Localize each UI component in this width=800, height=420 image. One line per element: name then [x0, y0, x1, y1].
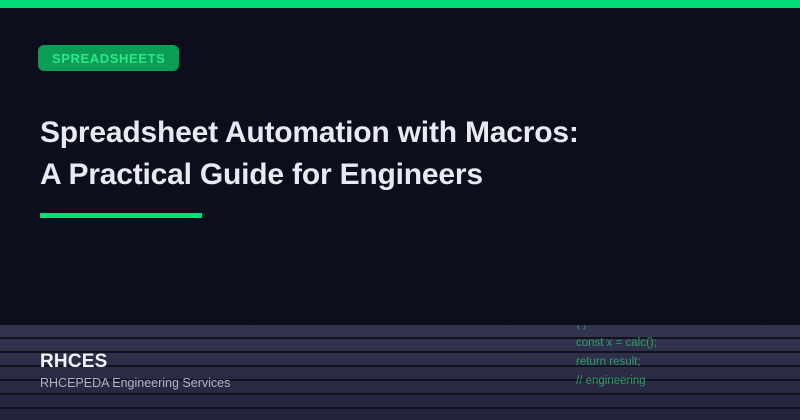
page-title-line-2: A Practical Guide for Engineers — [40, 154, 680, 196]
slide-canvas: SPREADSHEETS Spreadsheet Automation with… — [0, 0, 800, 420]
brand-name: RHCES — [40, 351, 230, 373]
category-badge: SPREADSHEETS — [38, 45, 179, 71]
code-line-2: return result; — [576, 353, 657, 372]
brand-tagline: RHCEPEDA Engineering Services — [40, 376, 230, 391]
main-stage: SPREADSHEETS Spreadsheet Automation with… — [0, 8, 800, 325]
footer-panel: RHCES RHCEPEDA Engineering Services { } … — [0, 325, 800, 420]
top-accent-bar — [0, 0, 800, 8]
code-line-1: const x = calc(); — [576, 334, 657, 353]
code-snippet-block: { } const x = calc(); return result; // … — [576, 325, 657, 391]
code-line-3: // engineering — [576, 372, 657, 391]
page-title: Spreadsheet Automation with Macros: A Pr… — [40, 112, 680, 196]
page-title-line-1: Spreadsheet Automation with Macros: — [40, 112, 680, 154]
code-line-0: { } — [576, 325, 657, 334]
category-badge-label: SPREADSHEETS — [52, 51, 165, 66]
brand-block: RHCES RHCEPEDA Engineering Services — [40, 351, 230, 391]
title-accent-underline — [40, 213, 202, 218]
